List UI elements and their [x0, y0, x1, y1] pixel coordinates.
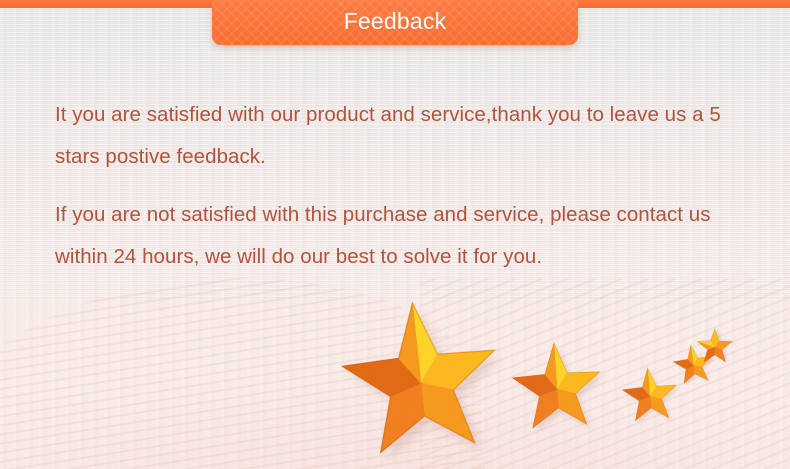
- page-title: Feedback: [344, 10, 447, 35]
- feedback-tab: Feedback: [212, 0, 578, 45]
- feedback-paragraph-support: If you are not satisfied with this purch…: [55, 194, 745, 278]
- feedback-text-block: It you are satisfied with our product an…: [55, 94, 745, 278]
- feedback-banner: Feedback It you are satisfied with our p…: [0, 0, 790, 469]
- feedback-paragraph-positive: It you are satisfied with our product an…: [55, 94, 745, 178]
